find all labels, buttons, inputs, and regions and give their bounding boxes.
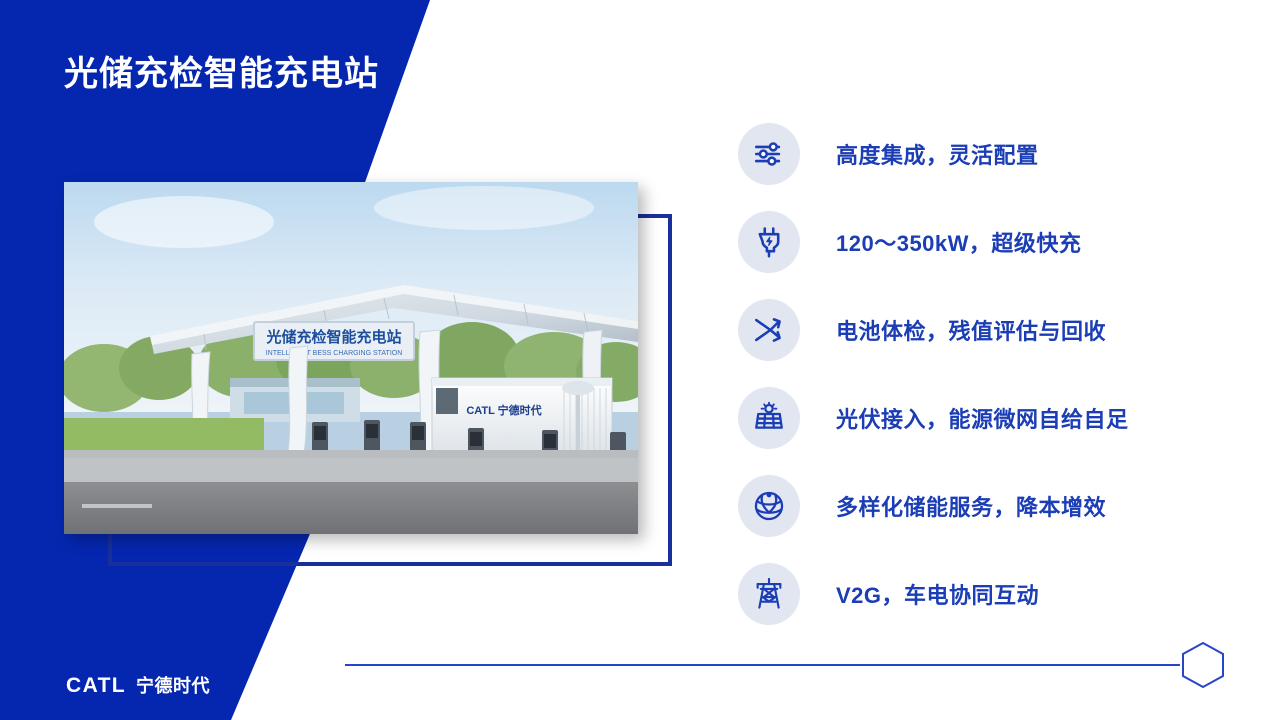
logo-latin-text: CATL: [66, 674, 126, 698]
sliders-icon: [738, 123, 800, 185]
photo-sign-cn: 光储充检智能充电站: [265, 328, 401, 346]
feature-item-1[interactable]: 高度集成，灵活配置: [738, 122, 1238, 186]
globe-network-icon: [738, 475, 800, 537]
feature-item-5[interactable]: 多样化储能服务，降本增效: [738, 474, 1238, 538]
page-title: 光储充检智能充电站: [64, 46, 379, 95]
logo-chinese-text: 宁德时代: [136, 672, 210, 698]
catl-logo: CATL 宁德时代: [66, 672, 210, 698]
feature-label-6: V2G，车电协同互动: [836, 578, 1039, 610]
photo-illustration: 光储充检智能充电站 INTELLIGENT BESS CHARGING STAT…: [64, 182, 638, 534]
photo-sign-en: INTELLIGENT BESS CHARGING STATION: [266, 350, 403, 357]
plug-bolt-icon: [738, 211, 800, 273]
feature-item-6[interactable]: V2G，车电协同互动: [738, 562, 1238, 626]
power-tower-icon: [738, 563, 800, 625]
shuffle-icon: [738, 299, 800, 361]
solar-panel-icon: [738, 387, 800, 449]
feature-label-4: 光伏接入，能源微网自给自足: [836, 402, 1129, 434]
feature-label-3: 电池体检，残值评估与回收: [836, 314, 1106, 346]
feature-item-4[interactable]: 光伏接入，能源微网自给自足: [738, 386, 1238, 450]
feature-label-1: 高度集成，灵活配置: [836, 138, 1039, 170]
feature-item-3[interactable]: 电池体检，残值评估与回收: [738, 298, 1238, 362]
feature-label-2: 120～350kW，超级快充: [836, 226, 1081, 258]
feature-list: 高度集成，灵活配置 120～350kW，超级快充 电池体检，残值评估与回收: [738, 122, 1238, 626]
hexagon-node-icon: [1180, 641, 1226, 689]
charging-station-photo: 光储充检智能充电站 INTELLIGENT BESS CHARGING STAT…: [64, 182, 638, 534]
feature-item-2[interactable]: 120～350kW，超级快充: [738, 210, 1238, 274]
feature-label-5: 多样化储能服务，降本增效: [836, 490, 1106, 522]
photo-container-logo: CATL 宁德时代: [466, 403, 541, 417]
footer-divider-line: [345, 664, 1180, 666]
